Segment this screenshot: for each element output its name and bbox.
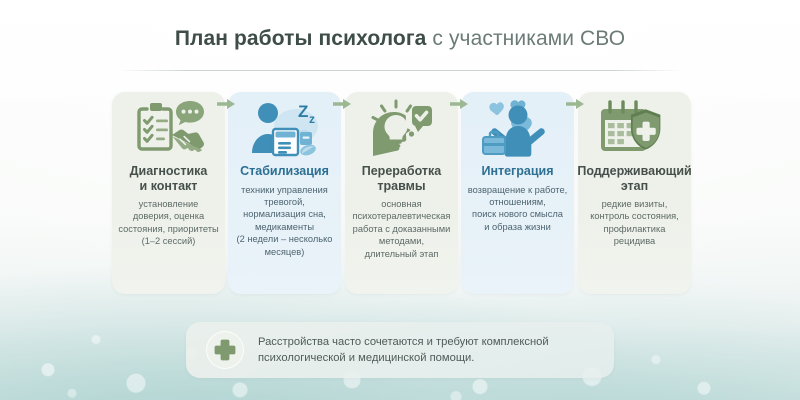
page-title-light: с участниками СВО [426,27,625,50]
summary-note-line1: Расстройства часто сочетаются и требуют … [258,334,549,351]
summary-note-line2: психологической и медицинской помощи. [258,350,549,367]
calendar-shield-icon [582,92,687,164]
stage-card-integraciya[interactable]: Интеграция возвращение к работе,отношени… [461,92,574,294]
infographic-canvas: План работы психолога с участниками СВО [0,0,800,400]
arrow-right-icon [566,97,584,111]
stage-description: основнаяпсихотералевтическаяработа с док… [352,198,452,260]
title-divider [118,70,682,71]
stage-card-pererabotka-travmy[interactable]: Переработкатравмы основнаяпсихотералевти… [345,92,458,294]
head-lightbulb-check-icon [349,92,454,164]
person-hearts-briefcase-icon [465,92,570,164]
clipboard-handshake-icon [116,92,221,164]
arrow-right-icon [450,97,468,111]
stage-card-podderzhivayushchiy-etap[interactable]: Поддерживающийэтап редкие визиты,контрол… [578,92,691,294]
stage-description: установлениедоверия, оценкасостояния, пр… [117,198,219,248]
page-title-strong: План работы психолога [175,27,427,50]
stage-title: Переработкатравмы [360,164,444,193]
stage-title: Поддерживающийэтап [575,164,693,193]
summary-note: Расстройства часто сочетаются и требуют … [186,322,614,378]
arrow-right-icon [217,97,235,111]
stage-card-row: Диагностикаи контакт установлениедоверия… [112,92,692,294]
page-title: План работы психолога с участниками СВО [0,26,800,52]
stage-description: техники управлениятревогой,нормализация … [236,184,334,258]
svg-text:Z: Z [298,102,308,121]
arrow-right-icon [333,97,351,111]
header: План работы психолога с участниками СВО [0,26,800,52]
stage-card-diagnostika[interactable]: Диагностикаи контакт установлениедоверия… [112,92,225,294]
summary-note-text: Расстройства часто сочетаются и требуют … [258,334,549,367]
person-sleep-medication-icon: Z z [232,92,337,164]
stage-description: возвращение к работе,отношениям,поиск но… [467,184,568,234]
medical-cross-icon [206,331,244,369]
stage-title: Диагностикаи контакт [128,164,210,193]
stage-title: Стабилизация [238,164,331,179]
stage-title: Интеграция [479,164,555,179]
stage-card-stabilizaciya[interactable]: Z z Стабилизация техники управлениятрево… [228,92,341,294]
stage-description: редкие визиты,контроль состояния,профила… [589,198,680,248]
svg-text:z: z [309,112,315,126]
